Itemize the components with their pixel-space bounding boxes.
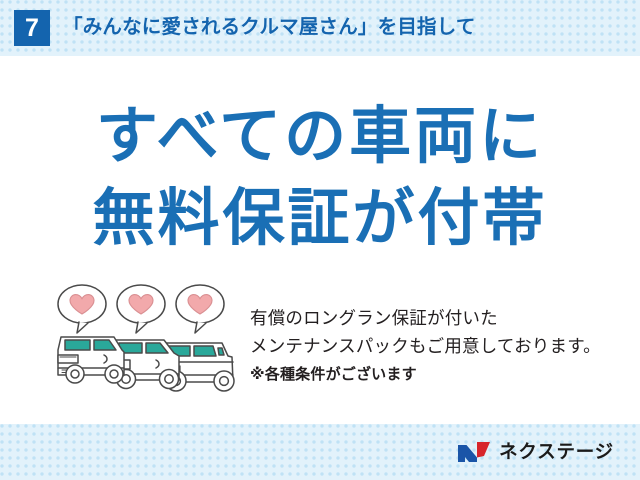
section-number-badge: 7 bbox=[14, 10, 50, 46]
car-kei-wagon bbox=[58, 337, 124, 383]
brand-logo: ネクステージ bbox=[457, 440, 614, 464]
headline: すべての車両に 無料保証が付帯 bbox=[0, 96, 640, 260]
cars-with-hearts-illustration bbox=[52, 282, 240, 398]
body-copy: 有償のロングラン保証が付いた メンテナンスパックもご用意しております。 ※各種条… bbox=[250, 282, 640, 387]
body-copy-line-2: メンテナンスパックもご用意しております。 bbox=[250, 332, 640, 360]
nextage-n-mark-icon bbox=[457, 440, 491, 464]
body-copy-line-1: 有償のロングラン保証が付いた bbox=[250, 304, 640, 332]
headline-line-2: 無料保証が付帯 bbox=[0, 178, 640, 260]
brand-name: ネクステージ bbox=[499, 443, 614, 462]
body-copy-note: ※各種条件がございます bbox=[250, 361, 640, 388]
header-title: 「みんなに愛されるクルマ屋さん」を目指して bbox=[63, 18, 476, 38]
headline-line-1: すべての車両に bbox=[0, 96, 640, 178]
cars-illustration-wrap bbox=[0, 282, 250, 403]
content-row: 有償のロングラン保証が付いた メンテナンスパックもご用意しております。 ※各種条… bbox=[0, 282, 640, 402]
header: 7 「みんなに愛されるクルマ屋さん」を目指して bbox=[0, 0, 640, 56]
footer: ネクステージ bbox=[0, 424, 640, 480]
warranty-banner: 7 「みんなに愛されるクルマ屋さん」を目指して すべての車両に 無料保証が付帯 bbox=[0, 0, 640, 480]
